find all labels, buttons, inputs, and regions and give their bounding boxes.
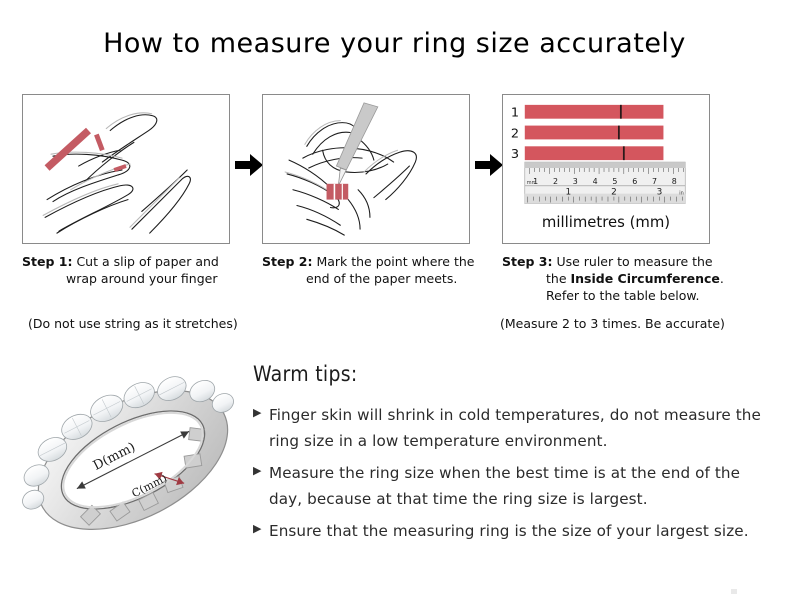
ruler-metric-7: 7 [652, 177, 657, 186]
step-3-illustration-panel: 1 2 3 1 2 3 4 5 6 7 [502, 94, 710, 244]
ruler-inch-unit-label: in [679, 191, 684, 197]
page-title: How to measure your ring size accurately [0, 28, 789, 59]
arrow-step2-to-step3 [472, 148, 506, 182]
ruler-unit-caption: millimetres (mm) [542, 214, 670, 231]
step-3-line2-suffix: . [720, 271, 724, 286]
paper-strip-red [47, 131, 126, 170]
tip-text: Finger skin will shrink in cold temperat… [269, 402, 773, 454]
step-2-line2: end of the paper meets. [262, 270, 487, 287]
step-3-note: (Measure 2 to 3 times. Be accurate) [500, 316, 725, 331]
step-3-line3: Refer to the table below. [502, 287, 767, 304]
step-1-caption: Step 1: Cut a slip of paper and wrap aro… [22, 253, 247, 287]
tip-item: ▶ Ensure that the measuring ring is the … [253, 518, 773, 544]
ruler-metric-3: 3 [573, 177, 578, 186]
step-1-illustration-panel [22, 94, 230, 244]
step-3-caption: Step 3: Use ruler to measure the the Ins… [502, 253, 767, 304]
step-3-label: Step 3: [502, 254, 552, 269]
step-3-line2-prefix: the [546, 271, 571, 286]
corner-artifact [731, 589, 737, 594]
hand-with-paper-strip-sketch [23, 95, 229, 243]
step-1-line2: wrap around your finger [22, 270, 247, 287]
step-1-note: (Do not use string as it stretches) [28, 316, 238, 331]
tip-item: ▶ Finger skin will shrink in cold temper… [253, 402, 773, 454]
paper-strip-red-marked [327, 184, 349, 200]
step-3-line1: Use ruler to measure the [556, 254, 712, 269]
step-2-line1: Mark the point where the [316, 254, 474, 269]
diamond-eternity-ring-diagram: D(mm) C(mm) [18, 352, 248, 567]
step-3-inside-circumference: Inside Circumference [571, 271, 720, 286]
ruler-metric-4: 4 [593, 177, 598, 186]
step-2-label: Step 2: [262, 254, 312, 269]
paper-strip-2 [525, 126, 664, 140]
ruler: 1 2 3 4 5 6 7 8 mm 1 2 3 in [525, 162, 685, 203]
strip-number-1: 1 [511, 106, 519, 121]
warm-tips-section: Warm tips: ▶ Finger skin will shrink in … [253, 362, 773, 550]
strip-number-2: 2 [511, 126, 519, 141]
ruler-metric-2: 2 [553, 177, 558, 186]
step-1-line1: Cut a slip of paper and [76, 254, 218, 269]
paper-strip-3 [525, 146, 664, 160]
triangle-bullet-icon: ▶ [253, 465, 269, 476]
tip-text: Measure the ring size when the best time… [269, 460, 773, 512]
step-1-label: Step 1: [22, 254, 72, 269]
paper-strips-over-ruler: 1 2 3 1 2 3 4 5 6 7 [503, 95, 709, 243]
pen [336, 103, 377, 186]
warm-tips-heading: Warm tips: [253, 362, 773, 386]
step-2-caption: Step 2: Mark the point where the end of … [262, 253, 487, 287]
tip-item: ▶ Measure the ring size when the best ti… [253, 460, 773, 512]
strip-number-3: 3 [511, 147, 519, 162]
triangle-bullet-icon: ▶ [253, 523, 269, 534]
step-3-line2: the Inside Circumference. [502, 270, 767, 287]
paper-strip-1 [525, 105, 664, 119]
ruler-imperial-2: 2 [611, 188, 617, 198]
ruler-imperial-3: 3 [657, 188, 663, 198]
arrow-step1-to-step2 [232, 148, 266, 182]
ruler-metric-6: 6 [632, 177, 637, 186]
ruler-mm-unit-label: mm [527, 180, 537, 186]
ruler-metric-5: 5 [612, 177, 617, 186]
tip-text: Ensure that the measuring ring is the si… [269, 518, 773, 544]
step-2-illustration-panel [262, 94, 470, 244]
hand-marking-paper-with-pen-sketch [263, 95, 469, 243]
triangle-bullet-icon: ▶ [253, 407, 269, 418]
ruler-metric-8: 8 [672, 177, 677, 186]
ruler-imperial-1: 1 [566, 188, 572, 198]
